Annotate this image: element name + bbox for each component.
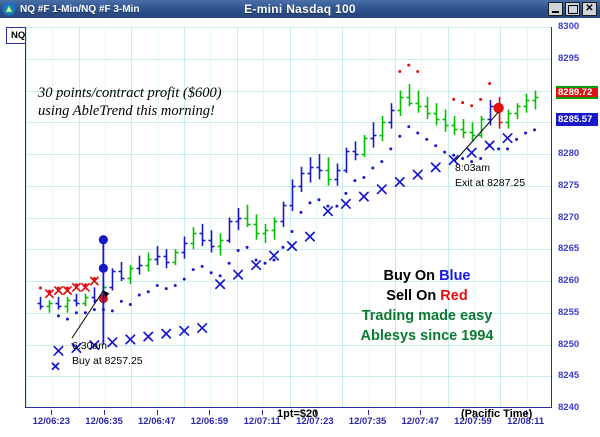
brand-block: Buy On Blue Sell On Red Trading made eas… [332, 266, 522, 346]
headline-line-1: 30 points/contract profit ($600) [38, 84, 222, 102]
x-axis-label: 12/06:23 [33, 416, 71, 427]
brand-tagline: Trading made easy [332, 306, 522, 326]
brand-buy-line: Buy On Blue [332, 266, 522, 286]
brand-sell-line: Sell On Red [332, 286, 522, 306]
y-axis-label: 8260 [558, 275, 579, 286]
timezone-label: (Pacific Time) [461, 408, 532, 420]
headline-annotation: 30 points/contract profit ($600) using A… [38, 84, 222, 120]
brand-blue-word: Blue [439, 268, 470, 284]
exit-time: 8:03am [455, 161, 525, 176]
y-axis: 8240824582508255826082658270827582808295… [556, 27, 600, 408]
window-left-title: NQ #F 1-Min/NQ #F 3-Min [20, 4, 139, 15]
y-axis-label: 8255 [558, 307, 579, 318]
x-axis-label: 12/06:35 [85, 416, 123, 427]
y-axis-label: 8250 [558, 339, 579, 350]
x-axis-label: 12/07:35 [349, 416, 387, 427]
bid-price-value: 8285.57 [558, 114, 592, 125]
x-axis-tick [262, 410, 263, 415]
y-axis-label: 8300 [558, 21, 579, 32]
window-controls: ✕ [548, 2, 597, 16]
entry-price-text: Buy at 8257.25 [72, 354, 143, 369]
entry-time: 6:30am [72, 339, 143, 354]
x-axis-label: 12/07:47 [401, 416, 439, 427]
y-axis-label: 8295 [558, 53, 579, 64]
x-axis-tick [368, 410, 369, 415]
brand-buy-text: Buy On [383, 268, 439, 284]
headline-line-2: using AbleTrend this morning! [38, 102, 222, 120]
exit-callout: 8:03am Exit at 8287.25 [455, 161, 525, 191]
maximize-button[interactable] [565, 2, 580, 16]
exit-price-text: Exit at 8287.25 [455, 176, 525, 191]
minimize-button[interactable] [548, 2, 563, 16]
x-axis-label: 12/06:47 [138, 416, 176, 427]
y-axis-label: 8280 [558, 148, 579, 159]
entry-callout: 6:30am Buy at 8257.25 [72, 339, 143, 369]
brand-company: Ablesys since 1994 [332, 326, 522, 346]
close-button[interactable]: ✕ [582, 2, 597, 16]
chart-panel: NQ #F [3-Min] 11/12/19 -2.2500 C 8265.25… [0, 18, 600, 437]
x-axis-label: 12/06:59 [191, 416, 229, 427]
x-axis-tick [104, 410, 105, 415]
y-axis-label: 8275 [558, 180, 579, 191]
brand-sell-text: Sell On [386, 288, 440, 304]
ablesys-triangle-icon [2, 2, 16, 16]
x-axis-tick [157, 410, 158, 415]
y-axis-label: 8265 [558, 243, 579, 254]
y-axis-label: 8240 [558, 402, 579, 413]
x-axis-tick [420, 410, 421, 415]
bid-price-tag: 8285.57 [556, 113, 598, 126]
y-axis-label: 8245 [558, 370, 579, 381]
entry-marker-icon: ✕ [50, 359, 61, 375]
brand-red-word: Red [440, 288, 467, 304]
y-axis-label: 8270 [558, 212, 579, 223]
x-axis-tick [209, 410, 210, 415]
window-titlebar[interactable]: NQ #F 1-Min/NQ #F 3-Min E-mini Nasdaq 10… [0, 0, 600, 18]
trading-chart-window: NQ #F 1-Min/NQ #F 3-Min E-mini Nasdaq 10… [0, 0, 600, 437]
point-value-label: 1pt=$20 [277, 408, 318, 420]
x-axis-tick [51, 410, 52, 415]
x-axis-label: 12/07:11 [244, 416, 281, 427]
ask-price-value: 8289.72 [558, 87, 592, 98]
ask-price-tag: 8289.72 [556, 86, 598, 99]
